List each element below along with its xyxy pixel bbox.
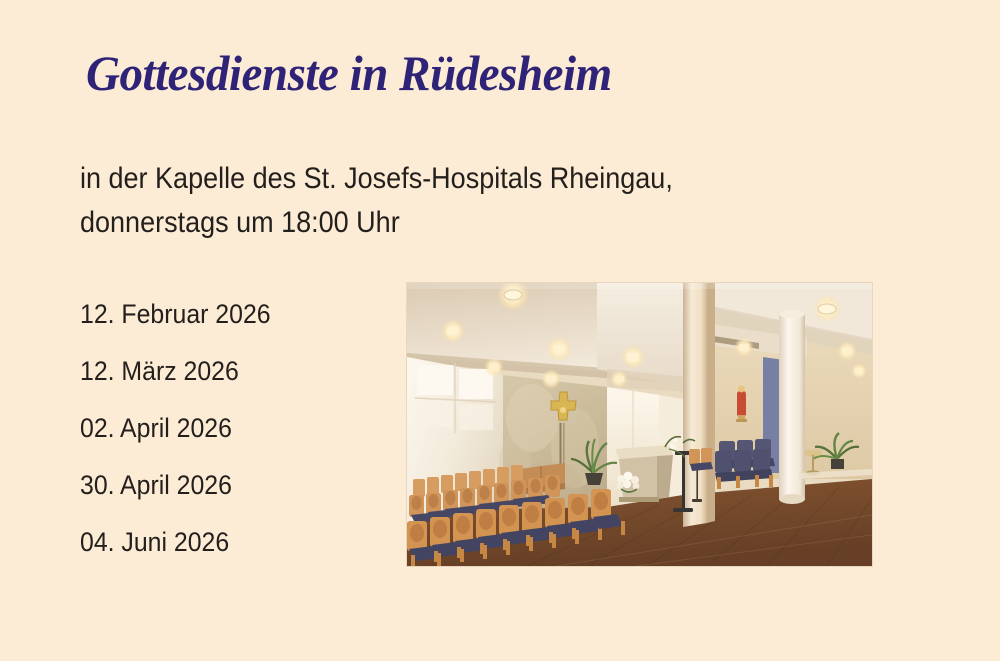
- chapel-photo: [407, 283, 872, 566]
- page-title: Gottesdienste in Rüdesheim: [86, 47, 744, 100]
- subtitle-line-2: donnerstags um 18:00 Uhr: [80, 201, 782, 245]
- list-item: 12. Februar 2026: [80, 286, 356, 343]
- service-date-list: 12. Februar 2026 12. März 2026 02. April…: [80, 286, 380, 571]
- list-item: 12. März 2026: [80, 343, 356, 400]
- list-item: 04. Juni 2026: [80, 514, 356, 571]
- list-item: 30. April 2026: [80, 457, 356, 514]
- subtitle-block: in der Kapelle des St. Josefs-Hospitals …: [80, 157, 782, 245]
- list-item: 02. April 2026: [80, 400, 356, 457]
- chapel-photo-illustration: [407, 283, 872, 566]
- subtitle-line-1: in der Kapelle des St. Josefs-Hospitals …: [80, 157, 782, 201]
- poster-canvas: Gottesdienste in Rüdesheim in der Kapell…: [0, 0, 1000, 661]
